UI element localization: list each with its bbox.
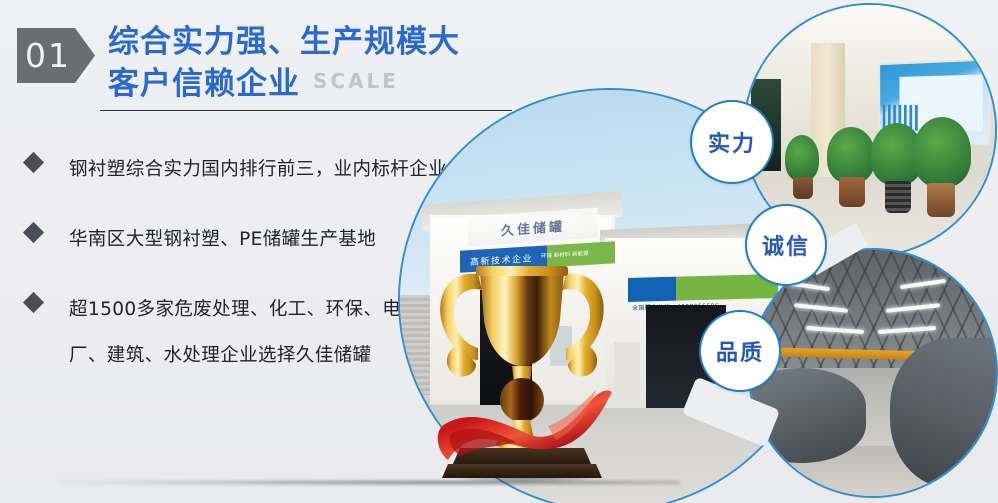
trophy-cup (480, 272, 564, 366)
badge-integrity-label: 诚信 (762, 229, 810, 261)
badge-quality-label: 品质 (716, 335, 764, 367)
section-number: 01 (17, 28, 79, 83)
trophy-base-top (452, 448, 592, 466)
badge-strength-label: 实力 (708, 126, 756, 158)
photo-pot-2 (839, 177, 865, 207)
title-english: SCALE (313, 62, 399, 104)
photo-plant-1 (785, 135, 819, 181)
list-item-text-line-2: 厂、建筑、水处理企业选择久佳储罐 (69, 333, 401, 379)
photo-pot-1 (793, 177, 813, 199)
diamond-bullet-icon (23, 152, 44, 173)
list-item-text: 华南区大型钢衬塑、PE储罐生产基地 (69, 217, 376, 263)
trophy-rim (476, 266, 568, 276)
photo-plant-4 (913, 117, 971, 187)
trophy-base-bottom (442, 464, 602, 478)
photo-tank-right (890, 338, 996, 488)
badge-strength[interactable]: 实力 (690, 100, 774, 184)
diamond-bullet-icon (23, 222, 44, 243)
photo-plant-2 (827, 127, 875, 183)
list-item-text-line-1: 超1500多家危废处理、化工、环保、电 (69, 287, 401, 333)
diamond-bullet-icon (23, 292, 44, 313)
title-line-2: 客户信赖企业 (108, 65, 300, 104)
promo-banner: 01 综合实力强、生产规模大 客户信赖企业 SCALE 钢衬塑综合实力国内排行前… (0, 0, 998, 503)
badge-integrity[interactable]: 诚信 (745, 204, 827, 286)
list-item-text: 钢衬塑综合实力国内排行前三，业内标杆企业 (69, 147, 447, 193)
trophy-knob (500, 378, 544, 422)
trophy-graphic (420, 248, 620, 483)
photo-pot-4 (927, 183, 955, 217)
photo-workshop-interior (750, 250, 996, 496)
section-number-badge: 01 (17, 28, 95, 83)
list-item-text: 超1500多家危废处理、化工、环保、电 厂、建筑、水处理企业选择久佳储罐 (69, 287, 401, 379)
badge-quality[interactable]: 品质 (699, 310, 781, 392)
floor-shadow (60, 479, 680, 486)
title-line-1: 综合实力强、生产规模大 (108, 23, 538, 62)
photo-pot-3 (885, 181, 911, 213)
